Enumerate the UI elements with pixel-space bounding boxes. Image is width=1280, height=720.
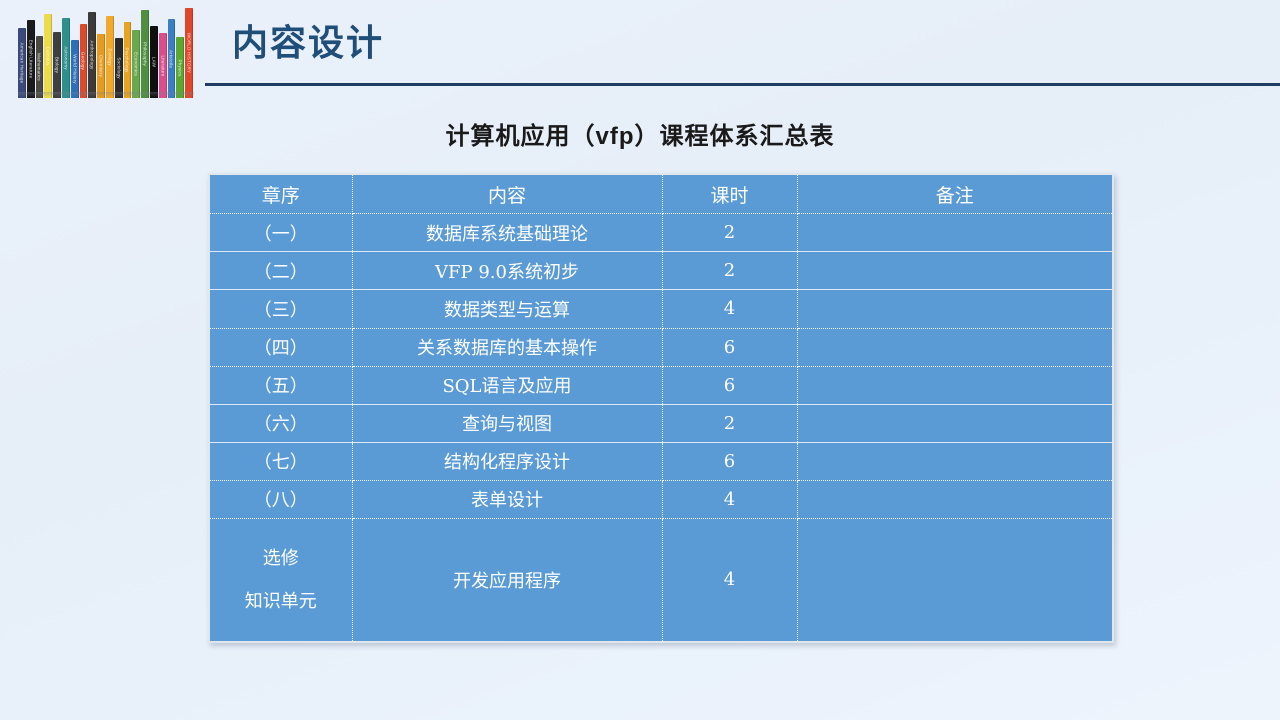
cell-content: 关系数据库的基本操作 xyxy=(352,328,662,366)
book-spine: Chemistry xyxy=(97,34,105,98)
book-spine: Psychology xyxy=(124,22,132,98)
book-spine: Philosophy xyxy=(141,10,149,98)
books-image: American HeritageEnglish LiteratureMathe… xyxy=(18,8,194,98)
book-spine-label: LAW xyxy=(151,57,156,67)
cell-note xyxy=(797,290,1112,328)
table-heading-prefix: 计算机应用（ xyxy=(446,121,596,150)
book-spine-label: Geology xyxy=(81,52,86,70)
cell-chapter: （四） xyxy=(210,328,352,366)
table-heading-vfp: vfp xyxy=(596,123,635,150)
books-image-shadow xyxy=(18,92,194,97)
cell-chapter: （二） xyxy=(210,252,352,290)
cell-chapter: （七） xyxy=(210,442,352,480)
cell-note xyxy=(797,480,1112,518)
book-spine: Calculus xyxy=(44,14,52,98)
table-row: （七） 结构化程序设计 6 xyxy=(210,442,1112,480)
book-spine-label: Physics xyxy=(178,59,183,76)
cell-chapter: （六） xyxy=(210,404,352,442)
book-spine-label: American Heritage xyxy=(19,43,24,84)
table-row: （八） 表单设计 4 xyxy=(210,480,1112,518)
cell-hours: 2 xyxy=(662,252,797,290)
cell-content: SQL语言及应用 xyxy=(352,366,662,404)
cell-note xyxy=(797,328,1112,366)
book-spine: Zoology xyxy=(106,16,114,98)
table-row: （三） 数据类型与运算 4 xyxy=(210,290,1112,328)
cell-content: 表单设计 xyxy=(352,480,662,518)
cell-hours: 2 xyxy=(662,214,797,252)
course-table-body: 章序 内容 课时 备注 （一） 数据库系统基础理论 2 （二） VFP 9.0系… xyxy=(210,175,1112,641)
table-row: （四） 关系数据库的基本操作 6 xyxy=(210,328,1112,366)
book-spine-label: Literature xyxy=(160,55,165,76)
book-spine: Sociology xyxy=(115,38,123,98)
book-spine-label: Sociology xyxy=(116,57,121,78)
cell-content: 结构化程序设计 xyxy=(352,442,662,480)
table-row: （五） SQL语言及应用 6 xyxy=(210,366,1112,404)
course-system-table: 章序 内容 课时 备注 （一） 数据库系统基础理论 2 （二） VFP 9.0系… xyxy=(210,175,1112,641)
column-header-note: 备注 xyxy=(797,175,1112,214)
slide-header: American HeritageEnglish LiteratureMathe… xyxy=(0,0,1280,100)
book-spine: American Heritage xyxy=(18,28,26,98)
title-underline-rule xyxy=(205,83,1280,86)
book-spine-label: Calculus xyxy=(46,47,51,66)
book-spine-label: Zoology xyxy=(107,48,112,65)
book-spine: Geology xyxy=(80,24,88,98)
cell-content: 数据库系统基础理论 xyxy=(352,214,662,252)
book-spine-label: World History xyxy=(72,54,77,84)
cell-content: VFP 9.0系统初步 xyxy=(352,252,662,290)
cell-chapter: （八） xyxy=(210,480,352,518)
book-spine-label: Psychology xyxy=(125,47,130,72)
cell-content: 查询与视图 xyxy=(352,404,662,442)
cell-note xyxy=(797,442,1112,480)
cell-chapter: （一） xyxy=(210,214,352,252)
cell-note xyxy=(797,252,1112,290)
book-spine-label: Anthropology xyxy=(90,41,95,70)
book-spine: Mathematics xyxy=(36,36,44,98)
table-row-elective: 选修 知识单元 开发应用程序 4 xyxy=(210,518,1112,641)
cell-hours: 4 xyxy=(662,290,797,328)
table-row: （一） 数据库系统基础理论 2 xyxy=(210,214,1112,252)
book-spine: Astronomy xyxy=(62,18,70,98)
table-heading-suffix: ）课程体系汇总表 xyxy=(635,121,835,150)
cell-content: 开发应用程序 xyxy=(352,518,662,641)
cell-hours: 6 xyxy=(662,442,797,480)
cell-hours: 2 xyxy=(662,404,797,442)
cell-chapter-elective: 选修 知识单元 xyxy=(210,518,352,641)
book-spine-label: WORLD HISTORY xyxy=(187,33,192,73)
cell-hours: 6 xyxy=(662,366,797,404)
table-heading: 计算机应用（vfp）课程体系汇总表 xyxy=(0,116,1280,151)
page-title: 内容设计 xyxy=(232,24,384,64)
table-row: （六） 查询与视图 2 xyxy=(210,404,1112,442)
book-spine: Physics xyxy=(176,37,184,98)
book-spine: WORLD HISTORY xyxy=(185,8,193,98)
cell-hours: 4 xyxy=(662,480,797,518)
cell-note xyxy=(797,404,1112,442)
book-spine-label: Aristotle xyxy=(169,49,174,67)
book-spine: Literature xyxy=(159,33,167,98)
elective-label-line1: 选修 xyxy=(214,537,348,580)
book-spine-label: Astronomy xyxy=(63,46,68,69)
book-spine-label: English Literature xyxy=(28,40,33,79)
cell-chapter: （三） xyxy=(210,290,352,328)
column-header-content: 内容 xyxy=(352,175,662,214)
cell-content: 数据类型与运算 xyxy=(352,290,662,328)
column-header-hours: 课时 xyxy=(662,175,797,214)
slide-root: American HeritageEnglish LiteratureMathe… xyxy=(0,0,1280,720)
book-spine: LAW xyxy=(150,26,158,98)
book-spine-label: Economics xyxy=(134,52,139,76)
table-row: （二） VFP 9.0系统初步 2 xyxy=(210,252,1112,290)
table-header-row: 章序 内容 课时 备注 xyxy=(210,175,1112,214)
cell-hours: 6 xyxy=(662,328,797,366)
book-spine-label: Mathematics xyxy=(37,53,42,81)
column-header-chapter: 章序 xyxy=(210,175,352,214)
cell-note xyxy=(797,366,1112,404)
cell-hours: 4 xyxy=(662,518,797,641)
course-table-container: 章序 内容 课时 备注 （一） 数据库系统基础理论 2 （二） VFP 9.0系… xyxy=(208,173,1114,643)
book-spine: Economics xyxy=(132,30,140,98)
book-spine-label: Biology xyxy=(55,57,60,73)
elective-label-line2: 知识单元 xyxy=(214,580,348,623)
book-spine-label: Philosophy xyxy=(143,42,148,66)
book-spine-label: Chemistry xyxy=(99,55,104,77)
book-spine: World History xyxy=(71,40,79,98)
cell-note xyxy=(797,214,1112,252)
book-spine: Biology xyxy=(53,32,61,98)
book-spine: Aristotle xyxy=(168,19,176,98)
book-spine: Anthropology xyxy=(88,12,96,98)
book-spine: English Literature xyxy=(27,20,35,98)
cell-note xyxy=(797,518,1112,641)
cell-chapter: （五） xyxy=(210,366,352,404)
